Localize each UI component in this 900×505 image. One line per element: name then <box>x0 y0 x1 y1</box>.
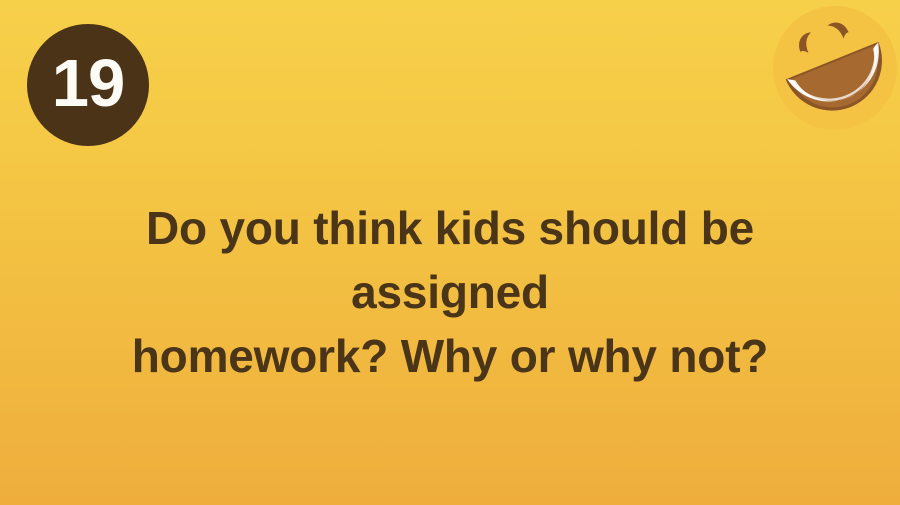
question-number-label: 19 <box>52 50 125 117</box>
slide-canvas: 19 Do you think kids should be assigned … <box>0 0 900 505</box>
rolling-on-the-floor-laughing-emoji <box>769 2 900 134</box>
question-number-badge: 19 <box>27 24 149 146</box>
question-text: Do you think kids should be assigned hom… <box>0 196 900 388</box>
